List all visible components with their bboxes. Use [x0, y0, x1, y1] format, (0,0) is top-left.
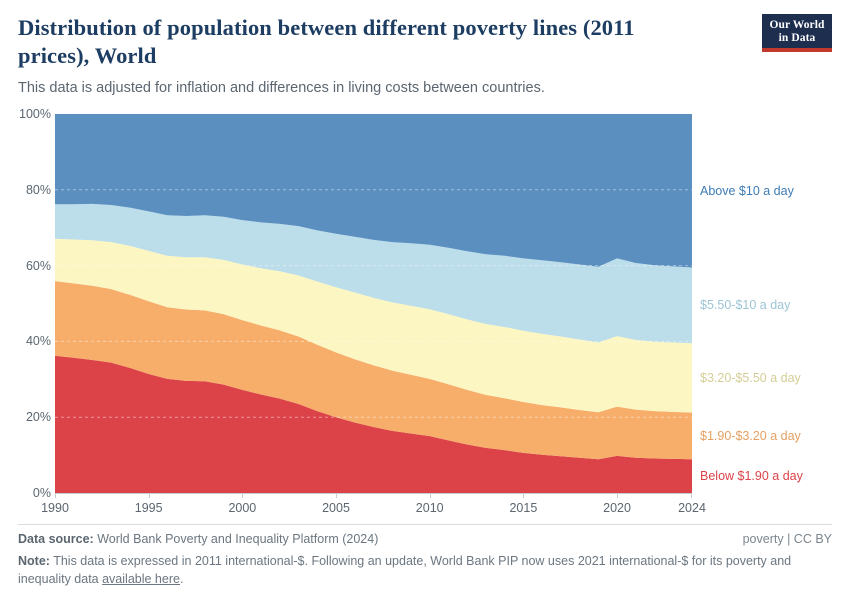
x-tick-mark	[691, 493, 692, 498]
legend-label-1[interactable]: $1.90-$3.20 a day	[700, 430, 801, 443]
x-tick-mark	[430, 493, 431, 498]
chart-canvas[interactable]: 0%20%40%60%80%100% 199019952000200520102…	[0, 106, 850, 518]
y-tick-label: 60%	[5, 259, 51, 273]
source-text: Data source: World Bank Poverty and Ineq…	[18, 531, 378, 549]
y-tick-label: 40%	[5, 334, 51, 348]
note-row: Note: This data is expressed in 2011 int…	[18, 553, 832, 589]
legend-label-0[interactable]: Below $1.90 a day	[700, 470, 803, 483]
x-tick-label: 2024	[678, 501, 706, 515]
owid-logo[interactable]: Our World in Data	[762, 14, 832, 52]
note-end: .	[180, 572, 183, 586]
note-link[interactable]: available here	[102, 572, 180, 586]
x-tick-label: 2000	[228, 501, 256, 515]
x-tick-mark	[242, 493, 243, 498]
y-tick-label: 100%	[5, 107, 51, 121]
plot-area[interactable]	[55, 114, 692, 493]
y-axis: 0%20%40%60%80%100%	[0, 114, 51, 493]
y-tick-label: 0%	[5, 486, 51, 500]
legend-label-2[interactable]: $3.20-$5.50 a day	[700, 372, 801, 385]
y-tick-label: 20%	[5, 410, 51, 424]
page-title: Distribution of population between diffe…	[18, 14, 678, 70]
x-axis: 19901995200020052010201520202024	[55, 493, 692, 519]
x-tick-label: 2020	[603, 501, 631, 515]
x-tick-mark	[149, 493, 150, 498]
x-tick-label: 1995	[135, 501, 163, 515]
owid-logo-line2: in Data	[762, 32, 832, 45]
chart-header: Distribution of population between diffe…	[18, 14, 678, 98]
legend-label-4[interactable]: Above $10 a day	[700, 184, 794, 197]
owid-logo-line1: Our World	[762, 19, 832, 32]
x-tick-label: 2010	[416, 501, 444, 515]
note-label: Note:	[18, 554, 50, 568]
stacked-area-svg	[55, 114, 692, 493]
x-tick-label: 2005	[322, 501, 350, 515]
chart-subtitle: This data is adjusted for inflation and …	[18, 79, 678, 99]
x-tick-mark	[55, 493, 56, 498]
license-text: poverty | CC BY	[743, 531, 832, 549]
x-tick-label: 1990	[41, 501, 69, 515]
x-tick-mark	[336, 493, 337, 498]
legend-label-3[interactable]: $5.50-$10 a day	[700, 299, 790, 312]
footer-divider	[18, 524, 832, 525]
chart-footer: Data source: World Bank Poverty and Ineq…	[18, 531, 832, 589]
x-tick-mark	[523, 493, 524, 498]
x-tick-label: 2015	[509, 501, 537, 515]
y-tick-label: 80%	[5, 183, 51, 197]
source-row: Data source: World Bank Poverty and Ineq…	[18, 531, 832, 548]
x-tick-mark	[617, 493, 618, 498]
chart-page: Distribution of population between diffe…	[0, 0, 850, 600]
source-label: Data source:	[18, 532, 94, 546]
source-value: World Bank Poverty and Inequality Platfo…	[97, 532, 378, 546]
